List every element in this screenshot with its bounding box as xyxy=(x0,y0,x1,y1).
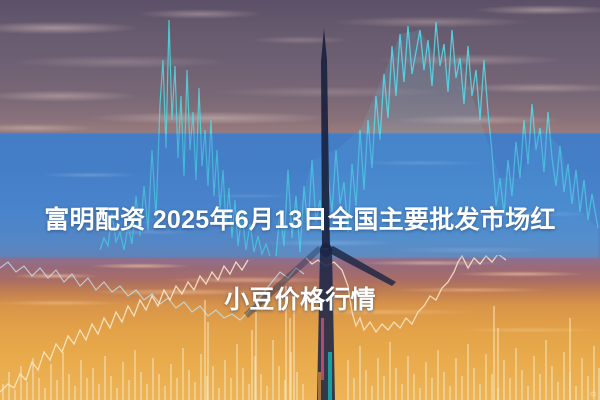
banner-image: 富明配资 2025年6月13日全国主要批发市场红 小豆价格行情 ф xyxy=(0,0,600,400)
title-line-2: 小豆价格行情 xyxy=(0,280,600,320)
title-line-1: 富明配资 2025年6月13日全国主要批发市场红 xyxy=(0,200,600,240)
corner-watermark: ф xyxy=(590,391,596,398)
page-title: 富明配资 2025年6月13日全国主要批发市场红 小豆价格行情 xyxy=(0,160,600,360)
turbine-accent-amber xyxy=(318,372,321,400)
